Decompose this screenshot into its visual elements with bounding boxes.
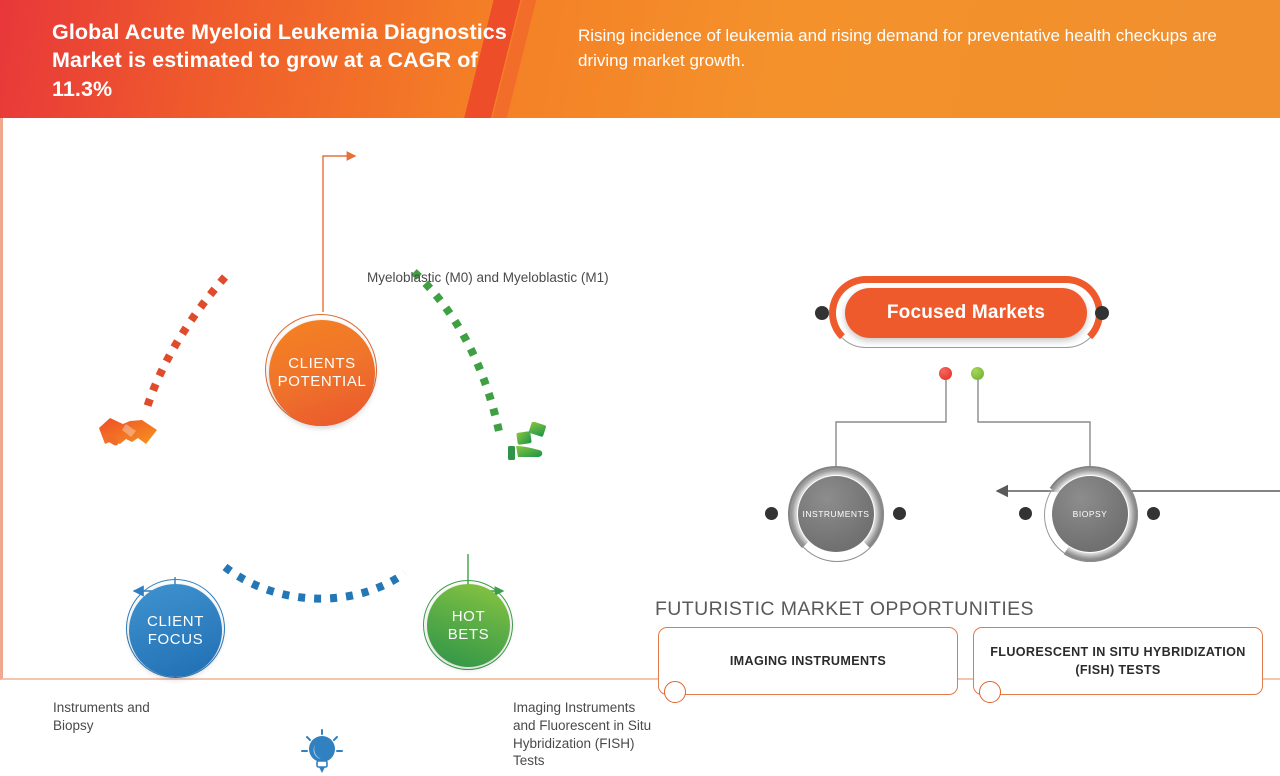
dotted-arc-orange	[145, 277, 225, 414]
client-focus-line2: FOCUS	[148, 631, 204, 648]
callout-hot-bets: Imaging Instruments and Fluorescent in S…	[513, 699, 658, 770]
callout-clients-potential: Myeloblastic (M0) and Myeloblastic (M1)	[367, 269, 667, 287]
hot-bets-line2: BETS	[448, 626, 490, 643]
connector-hub-instruments	[836, 380, 946, 470]
instruments-dot-right	[893, 507, 906, 520]
lightbulb-icon	[300, 728, 344, 776]
node-biopsy[interactable]: BIOPSY	[1052, 476, 1128, 552]
client-focus-line1: CLIENT	[147, 613, 204, 630]
futuristic-item-1-marker	[664, 681, 686, 703]
bubble-hot-bets[interactable]: HOT BETS	[427, 584, 510, 667]
futuristic-item-imaging-instruments[interactable]: IMAGING INSTRUMENTS	[658, 627, 958, 695]
hub-dot-right	[1095, 306, 1109, 320]
callout-leader-clients	[323, 156, 355, 312]
diagram-canvas: CLIENTS POTENTIAL CLIENT FOCUS HOT BETS …	[0, 118, 1280, 680]
page-title: Global Acute Myeloid Leukemia Diagnostic…	[52, 18, 522, 103]
biopsy-label: BIOPSY	[1073, 509, 1108, 519]
biopsy-dot-left	[1019, 507, 1032, 520]
dotted-arc-green	[414, 272, 500, 436]
callout-client-focus: Instruments and Biopsy	[53, 699, 183, 735]
futuristic-section-title: FUTURISTIC MARKET OPPORTUNITIES	[655, 598, 1034, 621]
handshake-icon	[96, 411, 160, 457]
red-branch-dot	[939, 367, 952, 380]
clients-potential-line2: POTENTIAL	[278, 373, 367, 390]
hand-money-icon	[508, 422, 554, 466]
dotted-arc-blue	[225, 567, 405, 599]
bubble-client-focus[interactable]: CLIENT FOCUS	[129, 584, 222, 677]
connector-hub-biopsy	[978, 380, 1090, 470]
green-branch-dot	[971, 367, 984, 380]
node-instruments[interactable]: INSTRUMENTS	[798, 476, 874, 552]
bubble-clients-potential[interactable]: CLIENTS POTENTIAL	[269, 320, 375, 426]
futuristic-item-2-marker	[979, 681, 1001, 703]
hot-bets-line1: HOT	[452, 608, 485, 625]
clients-potential-line1: CLIENTS	[288, 355, 356, 372]
focused-markets-pill[interactable]: Focused Markets	[845, 288, 1087, 338]
futuristic-item-2-label: FLUORESCENT IN SITU HYBRIDIZATION (FISH)…	[988, 643, 1248, 680]
biopsy-dot-right	[1147, 507, 1160, 520]
infographic-page: Global Acute Myeloid Leukemia Diagnostic…	[0, 0, 1280, 680]
instruments-label: INSTRUMENTS	[803, 509, 870, 519]
futuristic-item-1-label: IMAGING INSTRUMENTS	[730, 652, 886, 670]
hub-dot-left	[815, 306, 829, 320]
instruments-dot-left	[765, 507, 778, 520]
futuristic-item-fish-tests[interactable]: FLUORESCENT IN SITU HYBRIDIZATION (FISH)…	[973, 627, 1263, 695]
header-subtitle: Rising incidence of leukemia and rising …	[578, 24, 1248, 73]
focused-markets-label: Focused Markets	[887, 302, 1045, 324]
header-banner: Global Acute Myeloid Leukemia Diagnostic…	[0, 0, 1280, 118]
